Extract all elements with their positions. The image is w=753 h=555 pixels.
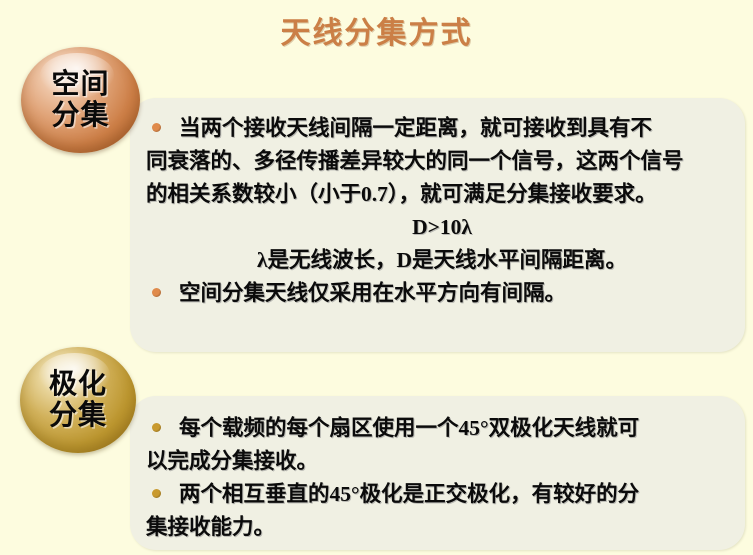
list-item: 每个载频的每个扇区使用一个45°双极化天线就可	[146, 412, 738, 445]
list-item-line: 的相关系数较小（小于0.7），就可满足分集接收要求。	[146, 182, 657, 206]
sphere-gradient: 空间 分集	[21, 47, 140, 153]
bullet-icon	[152, 288, 161, 297]
formula-legend-text: λ是无线波长，D是天线水平间隔距离。	[257, 248, 627, 272]
list-item-line: 当两个接收天线间隔一定距离，就可接收到具有不	[179, 116, 652, 140]
list-item: 当两个接收天线间隔一定距离，就可接收到具有不	[146, 112, 738, 145]
badge-label-line2: 分集	[49, 400, 107, 431]
list-item-line: 每个载频的每个扇区使用一个45°双极化天线就可	[179, 416, 639, 440]
list-item-line: 以完成分集接收。	[146, 449, 318, 473]
list-item-line: 两个相互垂直的45°极化是正交极化，有较好的分	[179, 482, 639, 506]
list-item: 空间分集天线仅采用在水平方向有间隔。	[146, 277, 738, 310]
slide-canvas: 天线分集方式 当两个接收天线间隔一定距离，就可接收到具有不 同衰落的、多径传播差…	[0, 0, 753, 555]
list-item: 两个相互垂直的45°极化是正交极化，有较好的分	[146, 478, 738, 511]
bullet-icon	[152, 123, 161, 132]
badge-label-line1: 极化	[49, 369, 107, 400]
sphere-gradient: 极化 分集	[20, 347, 136, 453]
page-title: 天线分集方式	[0, 8, 753, 52]
list-item-continuation: 同衰落的、多径传播差异较大的同一个信号，这两个信号	[146, 145, 738, 178]
spatial-diversity-text: 当两个接收天线间隔一定距离，就可接收到具有不 同衰落的、多径传播差异较大的同一个…	[146, 112, 738, 310]
list-item-continuation: 以完成分集接收。	[146, 445, 738, 478]
formula-text: D>10λ	[412, 215, 472, 239]
list-item-line: 同衰落的、多径传播差异较大的同一个信号，这两个信号	[146, 149, 684, 173]
badge-label-line2: 分集	[51, 100, 109, 131]
bullet-icon	[152, 423, 161, 432]
list-item-line: 集接收能力。	[146, 515, 275, 539]
badge-polarization-diversity[interactable]: 极化 分集	[20, 347, 136, 453]
formula-line: D>10λ	[146, 211, 738, 244]
badge-spatial-diversity[interactable]: 空间 分集	[21, 47, 140, 153]
list-item-continuation: 的相关系数较小（小于0.7），就可满足分集接收要求。	[146, 178, 738, 211]
list-item-continuation: 集接收能力。	[146, 511, 738, 544]
badge-label-line1: 空间	[51, 69, 109, 100]
polarization-diversity-text: 每个载频的每个扇区使用一个45°双极化天线就可 以完成分集接收。 两个相互垂直的…	[146, 412, 738, 544]
formula-legend: λ是无线波长，D是天线水平间隔距离。	[146, 244, 738, 277]
list-item-line: 空间分集天线仅采用在水平方向有间隔。	[179, 281, 566, 305]
bullet-icon	[152, 489, 161, 498]
